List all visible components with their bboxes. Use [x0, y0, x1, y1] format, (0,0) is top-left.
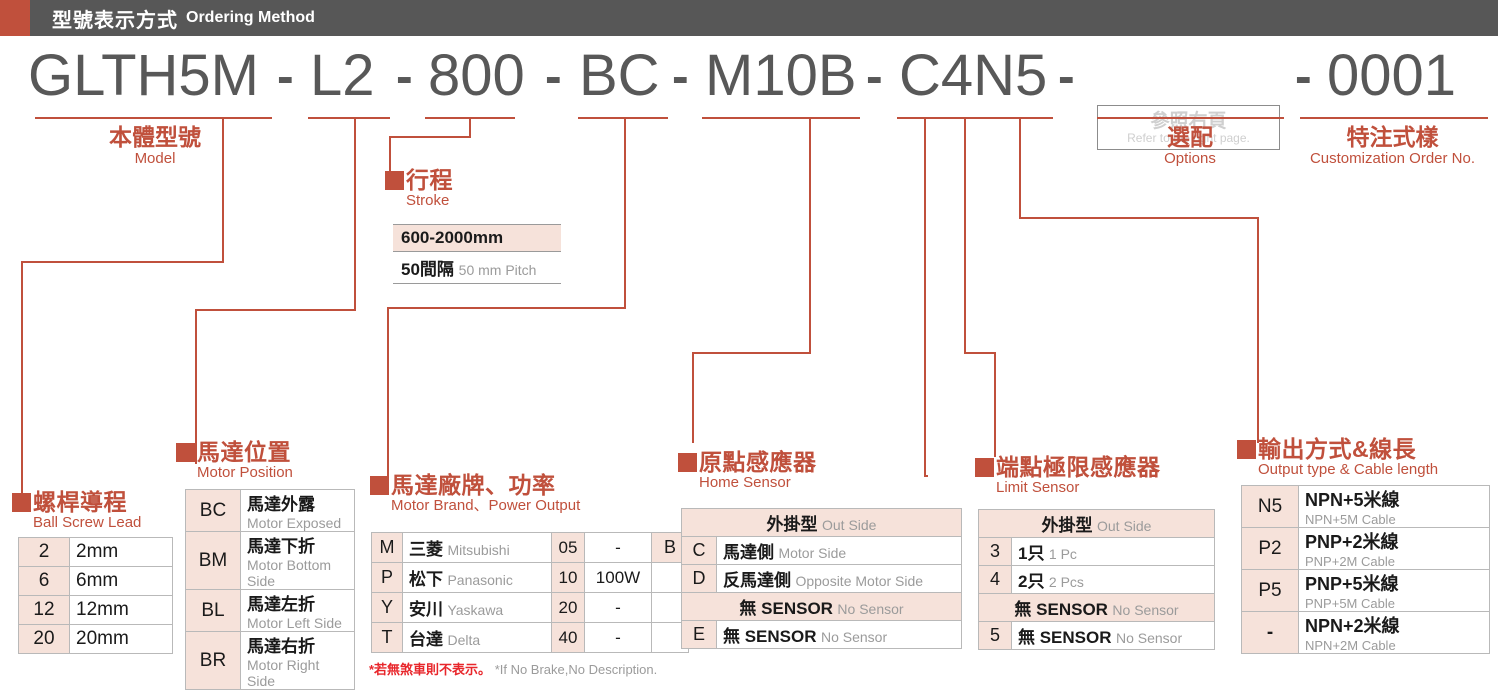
home-sensor-key: D: [682, 565, 717, 593]
output-cable-value: PNP+2米線 PNP+2M Cable: [1299, 528, 1490, 570]
motor-position-key: BC: [186, 490, 241, 532]
label-model: 本體型號 Model: [60, 124, 250, 167]
ball-screw-lead-title-en: Ball Screw Lead: [33, 514, 141, 531]
motor-position-key: BR: [186, 632, 241, 690]
limit-sensor-group-nosensor: 無 SENSOR No Sensor: [979, 594, 1215, 622]
brand-key: P: [372, 563, 403, 593]
table-row: 12 12mm: [19, 596, 173, 625]
brand-key: M: [372, 533, 403, 563]
output-cable-value: PNP+5米線 PNP+5M Cable: [1299, 570, 1490, 612]
motor-brand-note-en: *If No Brake,No Description.: [495, 662, 658, 677]
output-cable-table: N5 NPN+5米線 NPN+5M Cable P2 PNP+2米線 PNP+2…: [1241, 485, 1490, 654]
limit-sensor-key: 5: [979, 622, 1012, 650]
brand-key: T: [372, 623, 403, 653]
lead-key: 12: [19, 596, 70, 625]
label-options-en: Options: [1117, 150, 1263, 167]
section-output-cable: 輸出方式&線長 Output type & Cable length: [1237, 437, 1438, 478]
table-row: BR 馬達右折 Motor Right Side: [186, 632, 355, 690]
output-cable-key: N5: [1242, 486, 1299, 528]
brand-name: 台達 Delta: [403, 623, 552, 653]
motor-position-table: BC 馬達外露 Motor Exposed BM 馬達下折 Motor Bott…: [185, 489, 355, 690]
limit-sensor-value: 2只 2 Pcs: [1012, 566, 1215, 594]
section-ball-screw-lead: 螺桿導程 Ball Screw Lead: [12, 490, 141, 531]
output-cable-key: P5: [1242, 570, 1299, 612]
home-sensor-title-zh: 原點感應器: [699, 450, 817, 474]
limit-sensor-title-en: Limit Sensor: [996, 479, 1161, 496]
motor-brand-marker-icon: [370, 476, 389, 495]
power-value: 100W: [585, 563, 652, 593]
motor-position-value: 馬達下折 Motor Bottom Side: [241, 532, 355, 590]
table-row: BM 馬達下折 Motor Bottom Side: [186, 532, 355, 590]
power-key: 10: [552, 563, 585, 593]
motor-brand-title-en: Motor Brand、Power Output: [391, 497, 580, 514]
limit-sensor-title-zh: 端點極限感應器: [996, 455, 1161, 479]
stroke-pitch-cell: 50間隔 50 mm Pitch: [393, 252, 561, 284]
table-row: 6 6mm: [19, 567, 173, 596]
limit-sensor-key: 4: [979, 566, 1012, 594]
home-sensor-group-nosensor: 無 SENSOR No Sensor: [682, 593, 962, 621]
table-row: M 三菱 Mitsubishi 05 - B: [372, 533, 689, 563]
limit-sensor-value: 無 SENSOR No Sensor: [1012, 622, 1215, 650]
motor-position-key: BL: [186, 590, 241, 632]
motor-brand-note-zh: *若無煞車則不表示。: [369, 662, 491, 677]
table-row: 外掛型 Out Side: [682, 509, 962, 537]
motor-position-key: BM: [186, 532, 241, 590]
motor-brand-title-zh: 馬達廠牌、功率: [391, 473, 556, 497]
stroke-title-zh: 行程: [406, 168, 453, 192]
section-limit-sensor: 端點極限感應器 Limit Sensor: [975, 455, 1161, 496]
table-row: 3 1只 1 Pc: [979, 538, 1215, 566]
table-row: 50間隔 50 mm Pitch: [393, 252, 561, 284]
table-row: P2 PNP+2米線 PNP+2M Cable: [1242, 528, 1490, 570]
limit-sensor-value: 1只 1 Pc: [1012, 538, 1215, 566]
table-row: 無 SENSOR No Sensor: [979, 594, 1215, 622]
section-motor-brand: 馬達廠牌、功率 Motor Brand、Power Output: [370, 473, 580, 514]
home-sensor-value: 無 SENSOR No Sensor: [717, 621, 962, 649]
lead-value: 2mm: [70, 538, 173, 567]
table-row: 600-2000mm: [393, 225, 561, 252]
motor-brand-table: M 三菱 Mitsubishi 05 - B P 松下 Panasonic 10…: [371, 532, 689, 653]
home-sensor-group-outside: 外掛型 Out Side: [682, 509, 962, 537]
power-key: 05: [552, 533, 585, 563]
section-stroke: 行程 Stroke: [385, 168, 453, 209]
table-row: - NPN+2米線 NPN+2M Cable: [1242, 612, 1490, 654]
motor-position-marker-icon: [176, 443, 195, 462]
limit-sensor-table: 外掛型 Out Side 3 1只 1 Pc 4 2只 2 Pcs 無 SENS…: [978, 509, 1215, 650]
home-sensor-title-en: Home Sensor: [699, 474, 817, 491]
brand-name: 安川 Yaskawa: [403, 593, 552, 623]
label-model-zh: 本體型號: [60, 124, 250, 150]
stroke-pitch-en: 50 mm Pitch: [459, 262, 537, 278]
label-customization-en: Customization Order No.: [1295, 150, 1490, 167]
motor-position-title-zh: 馬達位置: [197, 440, 291, 464]
power-value: -: [585, 533, 652, 563]
limit-sensor-key: 3: [979, 538, 1012, 566]
table-row: 4 2只 2 Pcs: [979, 566, 1215, 594]
label-options-zh: 選配: [1117, 124, 1263, 150]
lead-key: 20: [19, 625, 70, 654]
table-row: C 馬達側 Motor Side: [682, 537, 962, 565]
stroke-title-en: Stroke: [406, 192, 453, 209]
lead-value: 20mm: [70, 625, 173, 654]
lead-key: 6: [19, 567, 70, 596]
label-customization-zh: 特注式樣: [1295, 124, 1490, 150]
table-row: Y 安川 Yaskawa 20 -: [372, 593, 689, 623]
ball-screw-lead-title-zh: 螺桿導程: [33, 490, 127, 514]
label-customization: 特注式樣 Customization Order No.: [1295, 124, 1490, 167]
home-sensor-table: 外掛型 Out Side C 馬達側 Motor Side D 反馬達側 Opp…: [681, 508, 962, 649]
lead-value: 12mm: [70, 596, 173, 625]
home-sensor-key: C: [682, 537, 717, 565]
output-cable-title-zh: 輸出方式&線長: [1258, 437, 1416, 461]
output-cable-key: -: [1242, 612, 1299, 654]
lead-key: 2: [19, 538, 70, 567]
output-cable-key: P2: [1242, 528, 1299, 570]
home-sensor-value: 馬達側 Motor Side: [717, 537, 962, 565]
table-row: E 無 SENSOR No Sensor: [682, 621, 962, 649]
brand-name: 三菱 Mitsubishi: [403, 533, 552, 563]
output-cable-marker-icon: [1237, 440, 1256, 459]
motor-position-value: 馬達外露 Motor Exposed: [241, 490, 355, 532]
motor-position-value: 馬達右折 Motor Right Side: [241, 632, 355, 690]
power-key: 40: [552, 623, 585, 653]
power-value: -: [585, 593, 652, 623]
home-sensor-key: E: [682, 621, 717, 649]
table-row: BL 馬達左折 Motor Left Side: [186, 590, 355, 632]
brand-key: Y: [372, 593, 403, 623]
table-row: 2 2mm: [19, 538, 173, 567]
ball-screw-lead-table: 2 2mm 6 6mm 12 12mm 20 20mm: [18, 537, 173, 654]
ball-screw-lead-marker-icon: [12, 493, 31, 512]
stroke-table: 600-2000mm 50間隔 50 mm Pitch: [393, 224, 561, 284]
output-cable-value: NPN+2米線 NPN+2M Cable: [1299, 612, 1490, 654]
home-sensor-value: 反馬達側 Opposite Motor Side: [717, 565, 962, 593]
stroke-pitch-zh: 50間隔: [401, 260, 454, 279]
lead-value: 6mm: [70, 567, 173, 596]
motor-brand-note: *若無煞車則不表示。 *If No Brake,No Description.: [369, 659, 657, 678]
table-row: P5 PNP+5米線 PNP+5M Cable: [1242, 570, 1490, 612]
output-cable-title-en: Output type & Cable length: [1258, 461, 1438, 478]
table-row: 無 SENSOR No Sensor: [682, 593, 962, 621]
power-key: 20: [552, 593, 585, 623]
stroke-range-cell: 600-2000mm: [393, 225, 561, 252]
power-value: -: [585, 623, 652, 653]
output-cable-value: NPN+5米線 NPN+5M Cable: [1299, 486, 1490, 528]
table-row: 20 20mm: [19, 625, 173, 654]
limit-sensor-group-outside: 外掛型 Out Side: [979, 510, 1215, 538]
stroke-marker-icon: [385, 171, 404, 190]
label-options: 選配 Options: [1117, 124, 1263, 167]
table-row: P 松下 Panasonic 10 100W: [372, 563, 689, 593]
limit-sensor-marker-icon: [975, 458, 994, 477]
table-row: 5 無 SENSOR No Sensor: [979, 622, 1215, 650]
motor-position-title-en: Motor Position: [197, 464, 293, 481]
section-home-sensor: 原點感應器 Home Sensor: [678, 450, 817, 491]
home-sensor-marker-icon: [678, 453, 697, 472]
table-row: BC 馬達外露 Motor Exposed: [186, 490, 355, 532]
table-row: T 台達 Delta 40 -: [372, 623, 689, 653]
brand-name: 松下 Panasonic: [403, 563, 552, 593]
table-row: N5 NPN+5米線 NPN+5M Cable: [1242, 486, 1490, 528]
table-row: D 反馬達側 Opposite Motor Side: [682, 565, 962, 593]
motor-position-value: 馬達左折 Motor Left Side: [241, 590, 355, 632]
section-motor-position: 馬達位置 Motor Position: [176, 440, 293, 481]
label-model-en: Model: [60, 150, 250, 167]
table-row: 外掛型 Out Side: [979, 510, 1215, 538]
